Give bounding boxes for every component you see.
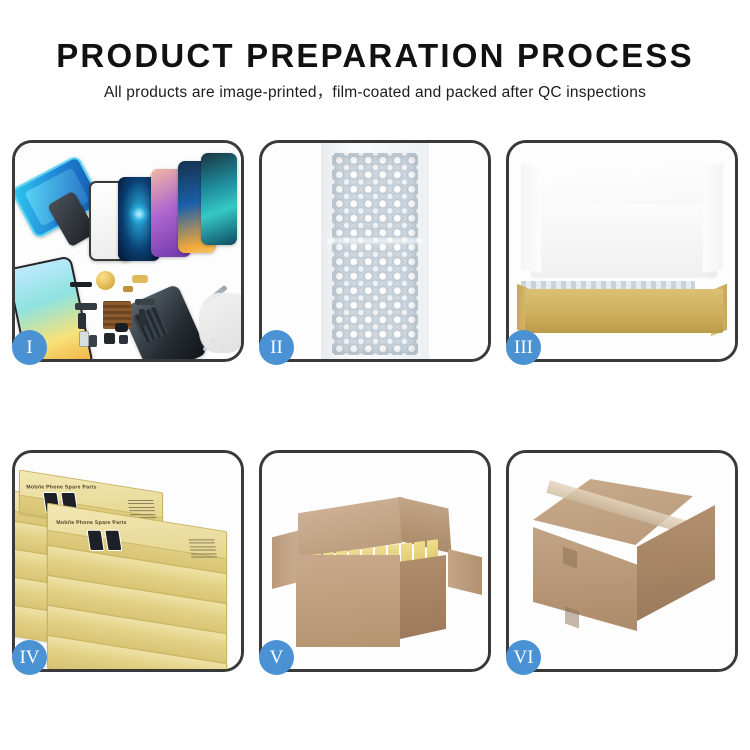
process-step-card-1[interactable]: I	[12, 140, 244, 362]
step-badge-6: VI	[506, 640, 541, 675]
process-step-card-2[interactable]: II	[259, 140, 491, 362]
flex-cable-vertical-icon	[78, 313, 86, 329]
sim-tray-icon	[79, 331, 89, 347]
step-badge-1: I	[12, 330, 47, 365]
vibration-motor-icon	[89, 335, 97, 347]
ic-chip-small-icon	[119, 335, 128, 344]
process-step-card-3[interactable]: III	[506, 140, 738, 362]
ribbon-cable-icon	[135, 299, 155, 305]
speaker-module-icon	[96, 271, 115, 290]
carton-front-panel-icon	[296, 555, 400, 647]
step-3-illustration	[509, 143, 735, 359]
kraft-tray-icon	[525, 289, 723, 333]
wrap-seam-icon	[327, 238, 423, 244]
bubble-wrap-icon	[332, 153, 418, 355]
phone-back-housing-icon	[120, 284, 208, 359]
header: PRODUCT PREPARATION PROCESS All products…	[0, 0, 750, 103]
camera-module-icon	[115, 323, 128, 332]
sealed-carton-front-icon	[533, 527, 637, 631]
flex-connector-icon	[123, 286, 133, 292]
step-badge-2: II	[259, 330, 294, 365]
box-label-text: Mobile Phone Spare Parts	[56, 520, 127, 526]
box-screen-graphics	[87, 530, 123, 551]
process-step-grid: I II III	[12, 140, 738, 685]
step-badge-4: IV	[12, 640, 47, 675]
step-1-illustration	[15, 143, 241, 359]
earpiece-mesh-icon	[70, 282, 92, 287]
ribbon-cable-vertical-icon	[139, 309, 145, 327]
process-step-card-6[interactable]: VI	[506, 450, 738, 672]
step-4-illustration: Mobile Phone Spare Parts Mobile Phone Sp…	[15, 453, 241, 669]
battery-connector-icon	[132, 275, 148, 283]
step-badge-5: V	[259, 640, 294, 675]
flex-cable-icon	[75, 303, 97, 310]
page-title: PRODUCT PREPARATION PROCESS	[0, 36, 750, 76]
page-subtitle: All products are image-printed，film-coat…	[0, 83, 750, 103]
carton-flap-right-icon	[448, 549, 482, 595]
box-spec-lines	[189, 539, 218, 560]
lid-flap-left-icon	[521, 163, 541, 273]
step-badge-3: III	[506, 330, 541, 365]
process-step-card-5[interactable]: V	[259, 450, 491, 672]
lid-flap-right-icon	[703, 163, 723, 273]
step-6-illustration	[509, 453, 735, 669]
white-box-lid-icon	[531, 159, 717, 277]
process-step-card-4[interactable]: Mobile Phone Spare Parts Mobile Phone Sp…	[12, 450, 244, 672]
phone-screen-teal-icon	[201, 153, 237, 245]
ic-chip-icon	[104, 333, 115, 344]
box-stack: Mobile Phone Spare Parts Mobile Phone Sp…	[15, 459, 241, 669]
carton-side-panel-icon	[400, 555, 446, 639]
box-label-text: Mobile Phone Spare Parts	[26, 484, 97, 490]
step-2-illustration	[262, 143, 488, 359]
hand-icon	[199, 293, 241, 353]
step-5-illustration	[262, 453, 488, 669]
